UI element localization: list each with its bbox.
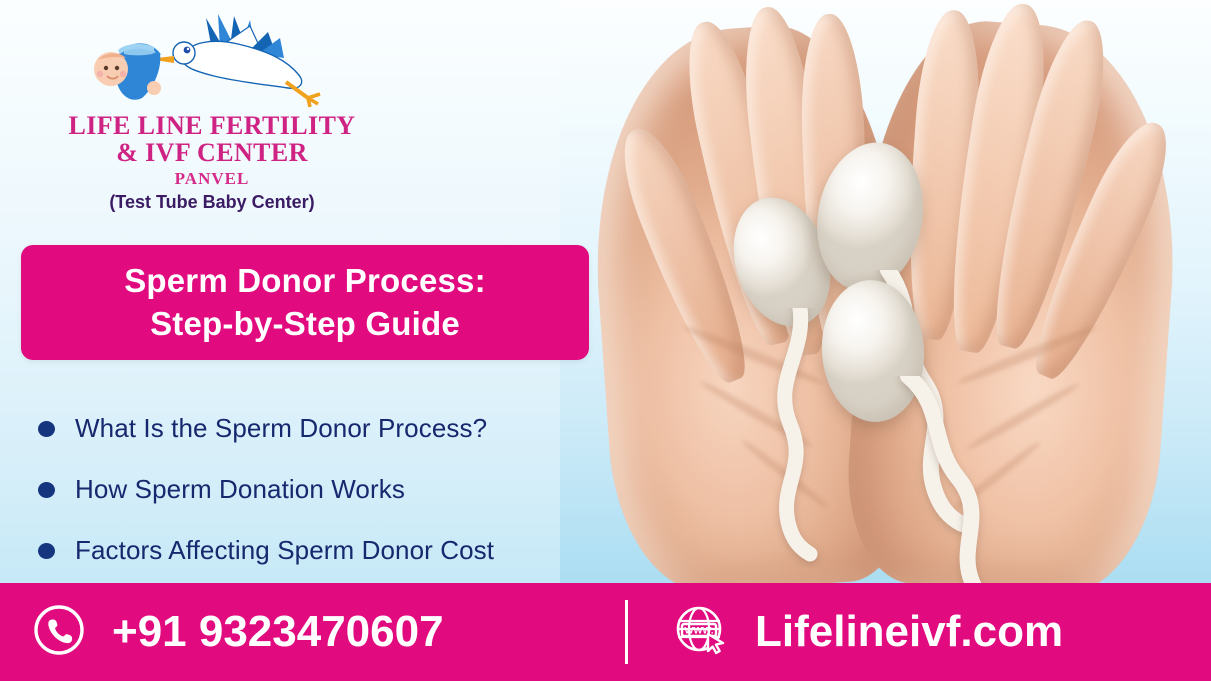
topic-list: What Is the Sperm Donor Process? How Spe… [38, 398, 618, 581]
phone-number: +91 9323470607 [112, 607, 444, 657]
footer-divider [625, 600, 628, 664]
stork-svg [62, 12, 362, 112]
logo-name-line1: LIFE LINE FERTILITY [62, 112, 362, 139]
hands-with-sperm-illustration [560, 0, 1211, 590]
headline-banner: Sperm Donor Process: Step-by-Step Guide [21, 245, 589, 360]
stork-body [182, 41, 302, 88]
poster-canvas: LIFE LINE FERTILITY & IVF CENTER PANVEL … [0, 0, 1211, 681]
phone-contact[interactable]: +91 9323470607 [0, 603, 625, 662]
website-contact[interactable]: WWW. Lifelineivf.com [625, 601, 1211, 664]
clinic-logo: LIFE LINE FERTILITY & IVF CENTER PANVEL … [62, 12, 362, 215]
list-item: Factors Affecting Sperm Donor Cost [38, 520, 618, 581]
stork-carrying-baby-icon [62, 12, 362, 112]
www-globe-cursor-icon: WWW. [671, 601, 729, 664]
logo-location: PANVEL [62, 168, 362, 189]
bullet-dot-icon [38, 482, 55, 498]
bullet-dot-icon [38, 421, 55, 437]
headline-line1: Sperm Donor Process: [124, 260, 486, 302]
list-item-label: What Is the Sperm Donor Process? [75, 413, 487, 444]
website-url: Lifelineivf.com [755, 607, 1063, 657]
baby-hand [147, 81, 161, 95]
contact-footer: +91 9323470607 WWW. Lifelineivf.com [0, 583, 1211, 681]
sperm-tail [886, 376, 1066, 590]
logo-tagline: (Test Tube Baby Center) [62, 190, 362, 215]
list-item-label: Factors Affecting Sperm Donor Cost [75, 535, 494, 566]
list-item: What Is the Sperm Donor Process? [38, 398, 618, 459]
phone-in-circle-icon [32, 603, 86, 662]
headline-line2: Step-by-Step Guide [150, 303, 460, 345]
logo-name-line2: & IVF CENTER [62, 139, 362, 168]
stork-head [173, 42, 195, 64]
bullet-dot-icon [38, 543, 55, 559]
list-item-label: How Sperm Donation Works [75, 474, 405, 505]
list-item: How Sperm Donation Works [38, 459, 618, 520]
